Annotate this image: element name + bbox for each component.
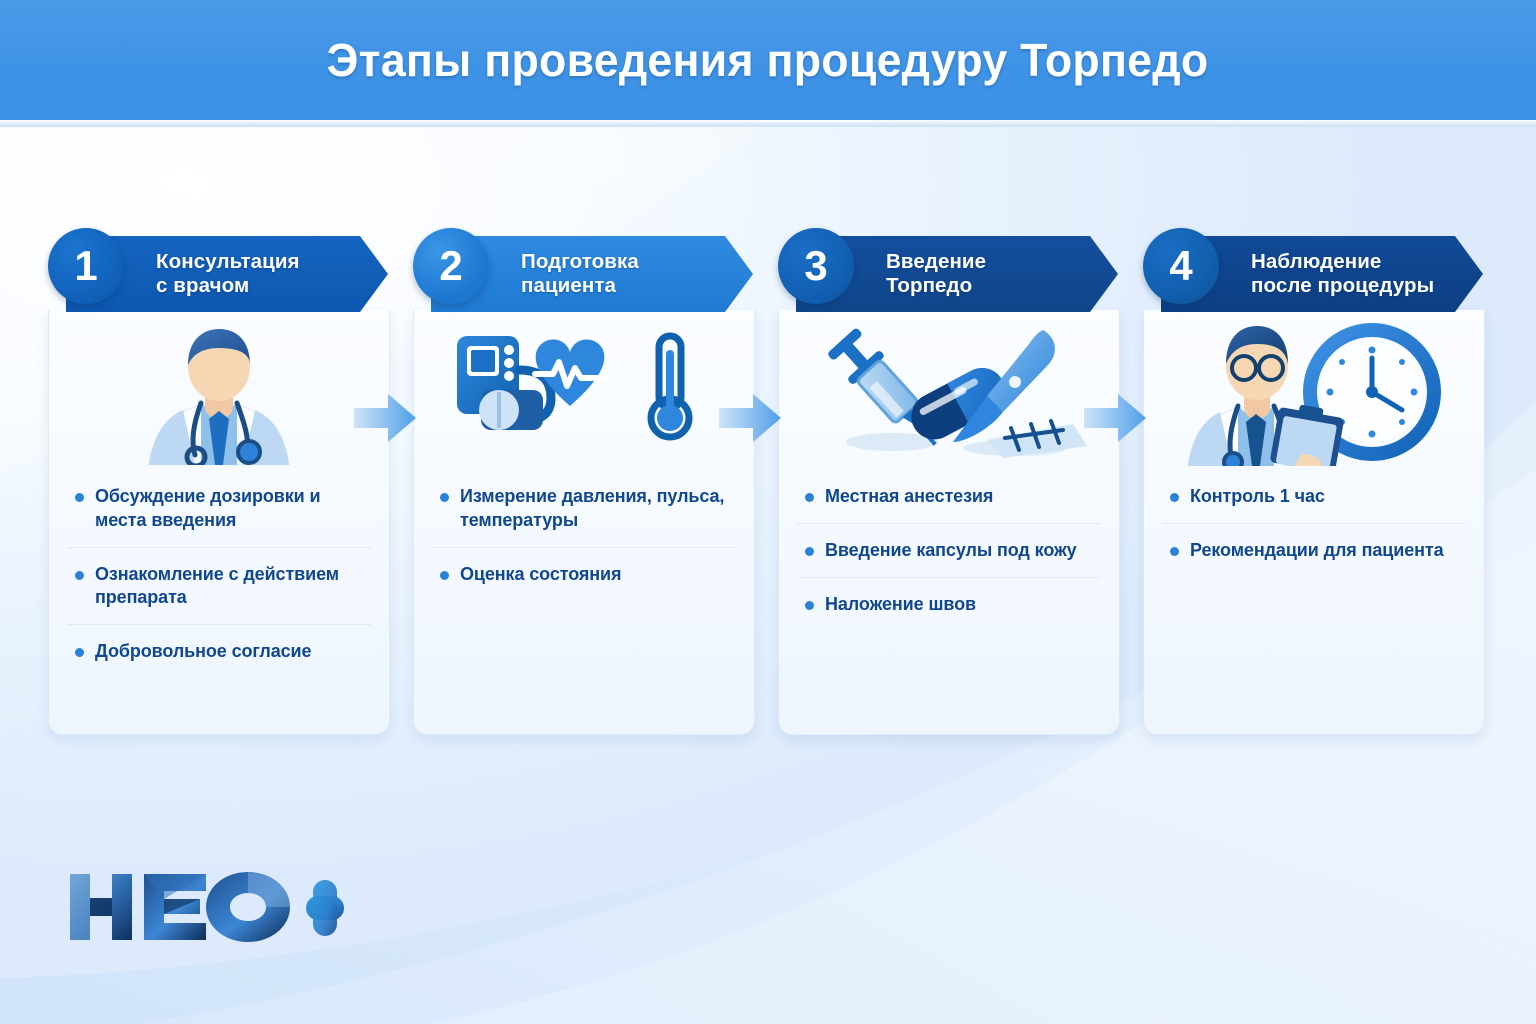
- steps-container: Консультация с врачом 1: [0, 228, 1536, 748]
- bullet-dot-icon: [440, 493, 449, 502]
- bullet-dot-icon: [805, 547, 814, 556]
- step-4-body: Контроль 1 час Рекомендации для пациента: [1143, 310, 1485, 735]
- list-item: Введение капсулы под кожу: [797, 524, 1101, 578]
- header-banner: Этапы проведения процедуру Торпедо: [0, 0, 1536, 120]
- bullet-dot-icon: [75, 571, 84, 580]
- step-3-body: Местная анестезия Введение капсулы под к…: [778, 310, 1120, 735]
- list-item: Рекомендации для пациента: [1162, 524, 1466, 577]
- blood-pressure-heart-thermometer-icon: [414, 310, 754, 470]
- list-item: Измерение давления, пульса, температуры: [432, 470, 736, 548]
- doctor-stethoscope-icon: [49, 310, 389, 470]
- list-item: Наложение швов: [797, 578, 1101, 631]
- neo-plus-logo: [66, 868, 346, 951]
- step-4-number-badge: 4: [1143, 228, 1219, 304]
- bullet-dot-icon: [440, 571, 449, 580]
- step-3-number-badge: 3: [778, 228, 854, 304]
- list-item: Добровольное согласие: [67, 625, 371, 678]
- step-2-bullets: Измерение давления, пульса, температуры …: [414, 470, 754, 620]
- step-card-2[interactable]: Подготовка пациента 2: [413, 228, 753, 735]
- list-item: Контроль 1 час: [1162, 470, 1466, 524]
- syringe-capsule-scalpel-icon: [779, 310, 1119, 470]
- step-1-title: Консультация с врачом: [156, 250, 300, 298]
- list-item: Ознакомление с действием препарата: [67, 548, 371, 626]
- step-card-4[interactable]: Наблюдение после процедуры 4: [1143, 228, 1483, 735]
- step-3-bullets: Местная анестезия Введение капсулы под к…: [779, 470, 1119, 650]
- list-item: Местная анестезия: [797, 470, 1101, 524]
- arrow-right-2-icon: [719, 390, 781, 446]
- step-card-1[interactable]: Консультация с врачом 1: [48, 228, 388, 735]
- step-3-header: Введение Торпедо 3: [778, 228, 1118, 312]
- bullet-dot-icon: [1170, 493, 1179, 502]
- bullet-dot-icon: [75, 493, 84, 502]
- step-4-bullets: Контроль 1 час Рекомендации для пациента: [1144, 470, 1484, 597]
- step-1-header: Консультация с врачом 1: [48, 228, 388, 312]
- step-1-bullets: Обсуждение дозировки и места введения Оз…: [49, 470, 389, 698]
- step-2-title: Подготовка пациента: [521, 250, 639, 298]
- step-4-title: Наблюдение после процедуры: [1251, 250, 1434, 298]
- step-1-body: Обсуждение дозировки и места введения Оз…: [48, 310, 390, 735]
- step-card-3[interactable]: Введение Торпедо 3: [778, 228, 1118, 735]
- bullet-dot-icon: [805, 493, 814, 502]
- page-title: Этапы проведения процедуру Торпедо: [327, 33, 1209, 87]
- step-2-body: Измерение давления, пульса, температуры …: [413, 310, 755, 735]
- step-3-title: Введение Торпедо: [886, 250, 986, 298]
- step-4-header: Наблюдение после процедуры 4: [1143, 228, 1483, 312]
- step-1-number-badge: 1: [48, 228, 124, 304]
- bullet-dot-icon: [75, 648, 84, 657]
- doctor-clipboard-clock-icon: [1144, 310, 1484, 470]
- step-2-header: Подготовка пациента 2: [413, 228, 753, 312]
- bullet-dot-icon: [1170, 547, 1179, 556]
- bullet-dot-icon: [805, 601, 814, 610]
- step-2-number-badge: 2: [413, 228, 489, 304]
- arrow-right-1-icon: [354, 390, 416, 446]
- list-item: Оценка состояния: [432, 548, 736, 601]
- list-item: Обсуждение дозировки и места введения: [67, 470, 371, 548]
- arrow-right-3-icon: [1084, 390, 1146, 446]
- banner-divider: [0, 120, 1536, 127]
